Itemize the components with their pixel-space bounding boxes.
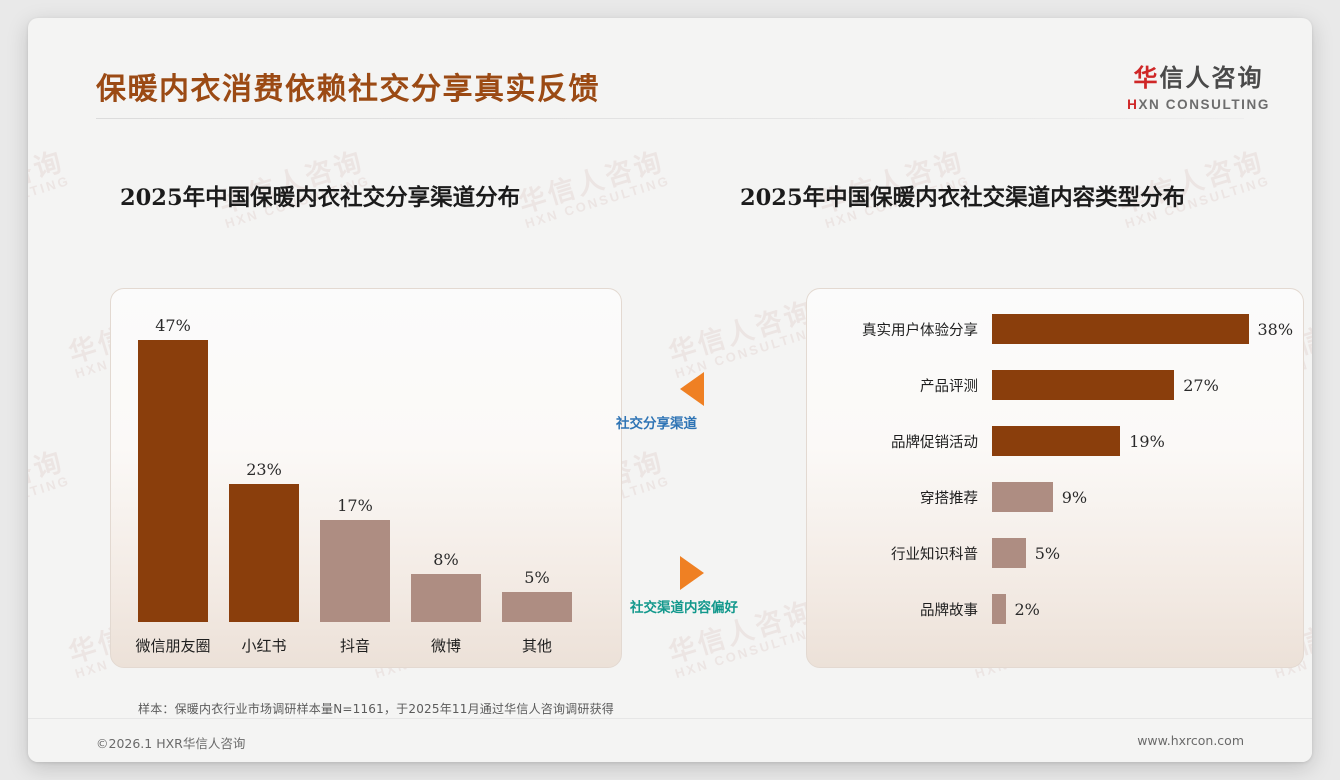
bar-row[interactable]: 行业知识科普5% [806, 536, 1060, 570]
logo-english-text: HXN CONSULTING [1127, 97, 1270, 112]
slide-header: 保暖内衣消费依赖社交分享真实反馈 华信人咨询 HXN CONSULTING [28, 18, 1312, 126]
bar-category-label: 行业知识科普 [806, 543, 992, 564]
slide-footer: ©2026.1 HXR华信人咨询 www.hxrcon.com [28, 718, 1312, 762]
company-logo: 华信人咨询 HXN CONSULTING [1127, 58, 1270, 112]
bar-category-label: 穿搭推荐 [806, 487, 992, 508]
bar-rect[interactable] [502, 592, 572, 622]
watermark-text: 华信人咨询HXN CONSULTING [665, 297, 822, 381]
bar-category-label: 品牌促销活动 [806, 431, 992, 452]
bar-rect[interactable] [992, 314, 1249, 344]
slide-card: 华信人咨询HXN CONSULTING华信人咨询HXN CONSULTING华信… [28, 18, 1312, 762]
chart-title-right: 2025年中国保暖内衣社交渠道内容类型分布 [740, 180, 1185, 212]
bar-value-label: 27% [1183, 376, 1219, 395]
vertical-bar-chart: 47%微信朋友圈23%小红书17%抖音8%微博5%其他 [110, 264, 622, 668]
bar-column[interactable]: 23%小红书 [229, 460, 299, 622]
bar-column[interactable]: 17%抖音 [320, 496, 390, 622]
bar-value-label: 47% [155, 316, 191, 335]
bar-rect[interactable] [411, 574, 481, 622]
sample-footnote: 样本：保暖内衣行业市场调研样本量N=1161，于2025年11月通过华信人咨询调… [138, 700, 614, 717]
bar-value-label: 19% [1129, 432, 1165, 451]
bar-row[interactable]: 真实用户体验分享38% [806, 312, 1293, 346]
annotation-label: 社交渠道内容偏好 [630, 596, 738, 616]
bar-category-label: 产品评测 [806, 375, 992, 396]
bar-category-label: 小红书 [241, 635, 286, 656]
bar-rect[interactable] [229, 484, 299, 622]
triangle-right-icon [680, 556, 704, 590]
bar-rect[interactable] [992, 426, 1120, 456]
logo-chinese-text: 华信人咨询 [1127, 58, 1270, 93]
logo-cn-rest: 信人咨询 [1160, 64, 1264, 92]
annotation-content-preference: 社交渠道内容偏好 [680, 556, 738, 616]
bar-category-label: 微博 [431, 635, 461, 656]
bar-value-label: 38% [1258, 320, 1294, 339]
bar-rect[interactable] [992, 594, 1006, 624]
watermark-text: 华信人咨询HXN CONSULTING [515, 147, 672, 231]
bar-category-label: 其他 [522, 635, 552, 656]
annotation-social-share-channel: 社交分享渠道 [680, 372, 704, 432]
header-divider [96, 118, 1244, 119]
bar-value-label: 5% [1035, 544, 1060, 563]
bar-row[interactable]: 产品评测27% [806, 368, 1219, 402]
bar-category-label: 真实用户体验分享 [806, 319, 992, 340]
bar-row[interactable]: 品牌故事2% [806, 592, 1040, 626]
bar-column[interactable]: 5%其他 [502, 568, 572, 622]
bar-column[interactable]: 8%微博 [411, 550, 481, 622]
bar-rect[interactable] [992, 538, 1026, 568]
bar-rect[interactable] [992, 482, 1053, 512]
bar-row[interactable]: 穿搭推荐9% [806, 480, 1087, 514]
bar-value-label: 9% [1062, 488, 1087, 507]
bar-row[interactable]: 品牌促销活动19% [806, 424, 1165, 458]
bar-value-label: 5% [524, 568, 549, 587]
page-title: 保暖内衣消费依赖社交分享真实反馈 [96, 64, 600, 108]
website-text[interactable]: www.hxrcon.com [1137, 733, 1244, 748]
logo-cn-highlight: 华 [1134, 64, 1160, 92]
annotation-label: 社交分享渠道 [616, 412, 704, 432]
copyright-text: ©2026.1 HXR华信人咨询 [96, 733, 245, 752]
watermark-text: 华信人咨询HXN CONSULTING [28, 447, 72, 531]
watermark-text: 华信人咨询HXN CONSULTING [28, 147, 72, 231]
bar-value-label: 2% [1015, 600, 1040, 619]
bar-rect[interactable] [992, 370, 1174, 400]
bar-category-label: 抖音 [340, 635, 370, 656]
bar-category-label: 品牌故事 [806, 599, 992, 620]
bar-value-label: 23% [246, 460, 282, 479]
bar-value-label: 8% [433, 550, 458, 569]
bar-category-label: 微信朋友圈 [135, 635, 210, 656]
horizontal-bar-chart: 真实用户体验分享38%产品评测27%品牌促销活动19%穿搭推荐9%行业知识科普5… [806, 296, 1312, 662]
bar-value-label: 17% [337, 496, 373, 515]
bar-column[interactable]: 47%微信朋友圈 [138, 316, 208, 622]
bar-rect[interactable] [138, 340, 208, 622]
logo-en-highlight: H [1127, 97, 1138, 112]
bar-rect[interactable] [320, 520, 390, 622]
logo-en-rest: XN CONSULTING [1138, 97, 1270, 112]
triangle-left-icon [680, 372, 704, 406]
chart-title-left: 2025年中国保暖内衣社交分享渠道分布 [120, 180, 520, 212]
